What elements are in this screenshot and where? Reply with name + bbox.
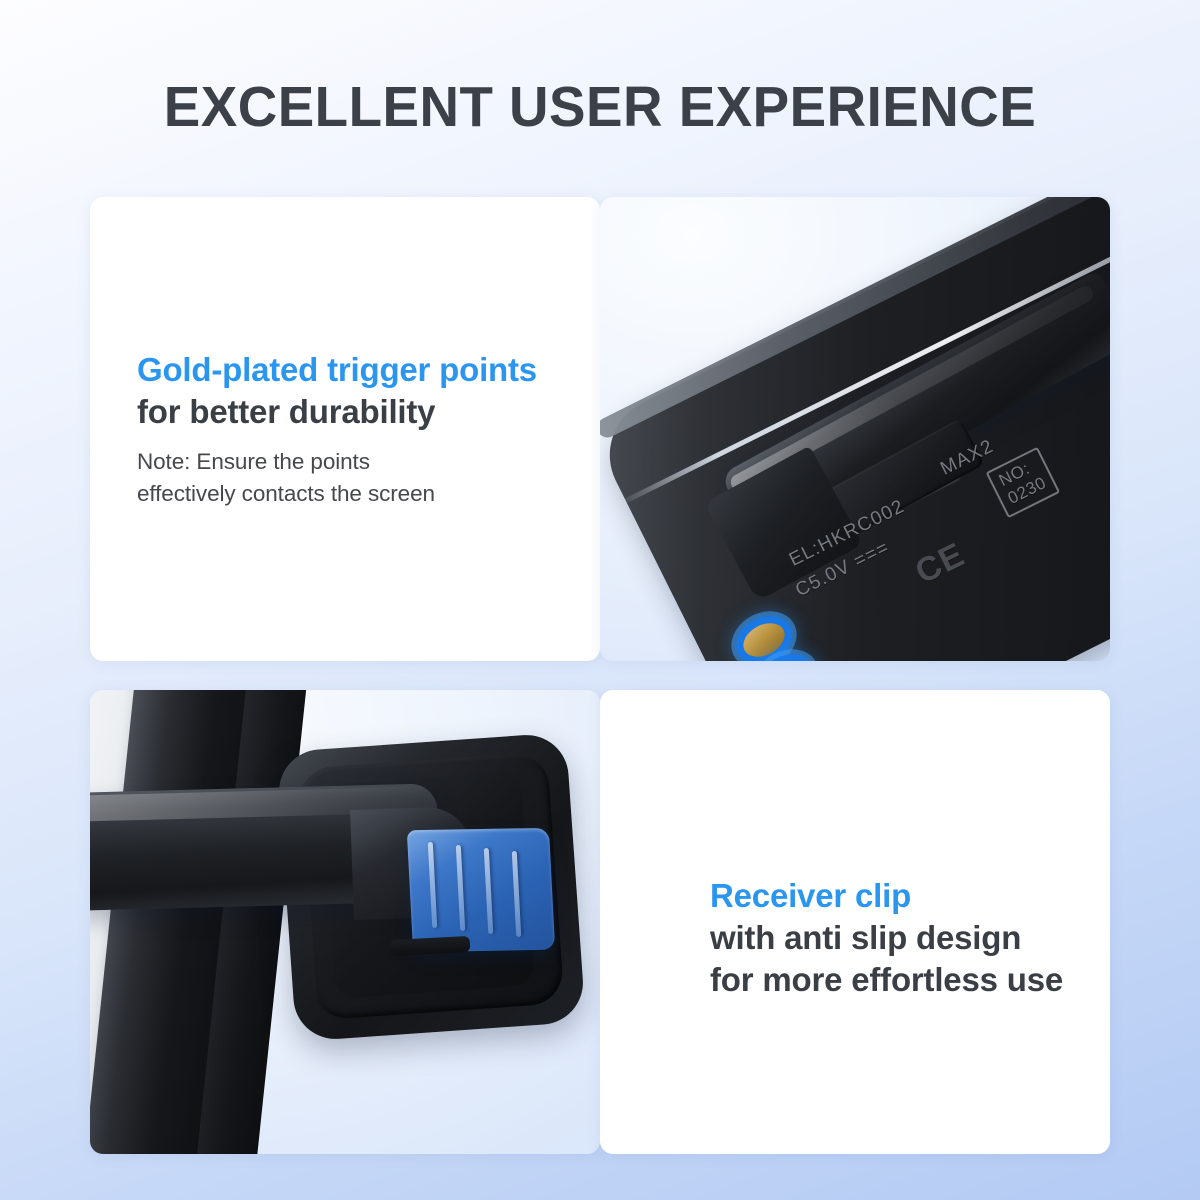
headline-dark-durability: for better durability <box>137 391 567 433</box>
card-receiver-clip-text: Receiver clip with anti slip design for … <box>600 690 1110 1154</box>
top-left-text-block: Gold-plated trigger points for better du… <box>137 349 567 510</box>
card-photo-trigger-points: EL:HKRC002 C5.0V === MAX2 NO: 0230 CE <box>600 197 1110 661</box>
note-line-1: Note: Ensure the points <box>137 446 567 478</box>
product-feature-page: EXCELLENT USER EXPERIENCE Gold-plated tr… <box>0 0 1200 1200</box>
note-line-2: effectively contacts the screen <box>137 478 567 510</box>
headline-accent-gold-plated: Gold-plated trigger points <box>137 349 567 391</box>
note-block: Note: Ensure the points effectively cont… <box>137 446 567 510</box>
card-gold-plated-trigger-points: Gold-plated trigger points for better du… <box>90 197 600 661</box>
page-title: EXCELLENT USER EXPERIENCE <box>24 78 1176 138</box>
card-photo-receiver-clip <box>90 690 600 1154</box>
headline-dark-effortless: for more effortless use <box>710 959 1110 1001</box>
bottom-right-text-block: Receiver clip with anti slip design for … <box>710 875 1110 1002</box>
photo-trigger-arm: EL:HKRC002 C5.0V === MAX2 NO: 0230 CE <box>600 197 1110 661</box>
headline-accent-receiver-clip: Receiver clip <box>710 875 1110 917</box>
headline-dark-anti-slip: with anti slip design <box>710 917 1110 959</box>
photo-receiver-clip <box>90 690 600 1154</box>
